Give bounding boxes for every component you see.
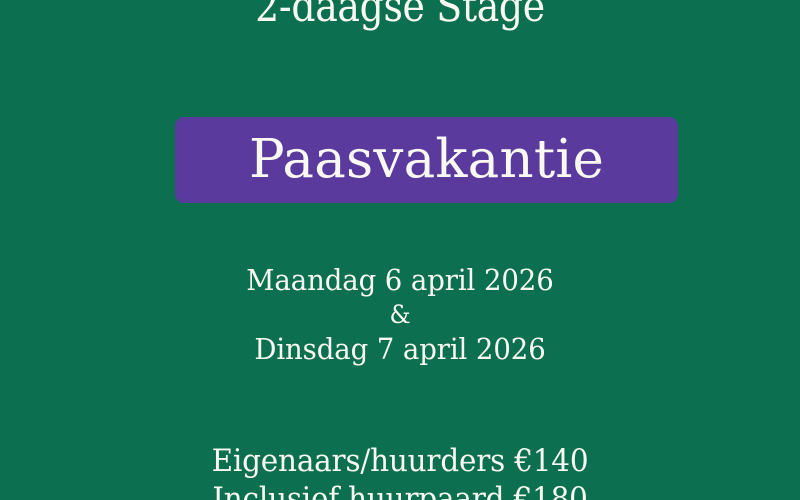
price-with-horse: Inclusief huurpaard €180 bbox=[20, 480, 780, 500]
date-separator: & bbox=[20, 299, 780, 331]
date-second: Dinsdag 7 april 2026 bbox=[20, 331, 780, 368]
poster-canvas: 2-daagse Stage Paasvakantie Maandag 6 ap… bbox=[0, 0, 800, 500]
banner-title: Paasvakantie bbox=[249, 133, 604, 186]
price-owners: Eigenaars/huurders €140 bbox=[20, 442, 780, 480]
prices-block: Eigenaars/huurders €140 Inclusief huurpa… bbox=[0, 442, 800, 500]
page-title: 2-daagse Stage bbox=[48, 0, 752, 29]
highlight-banner: Paasvakantie bbox=[175, 117, 678, 203]
date-first: Maandag 6 april 2026 bbox=[20, 262, 780, 299]
dates-block: Maandag 6 april 2026 & Dinsdag 7 april 2… bbox=[0, 262, 800, 368]
